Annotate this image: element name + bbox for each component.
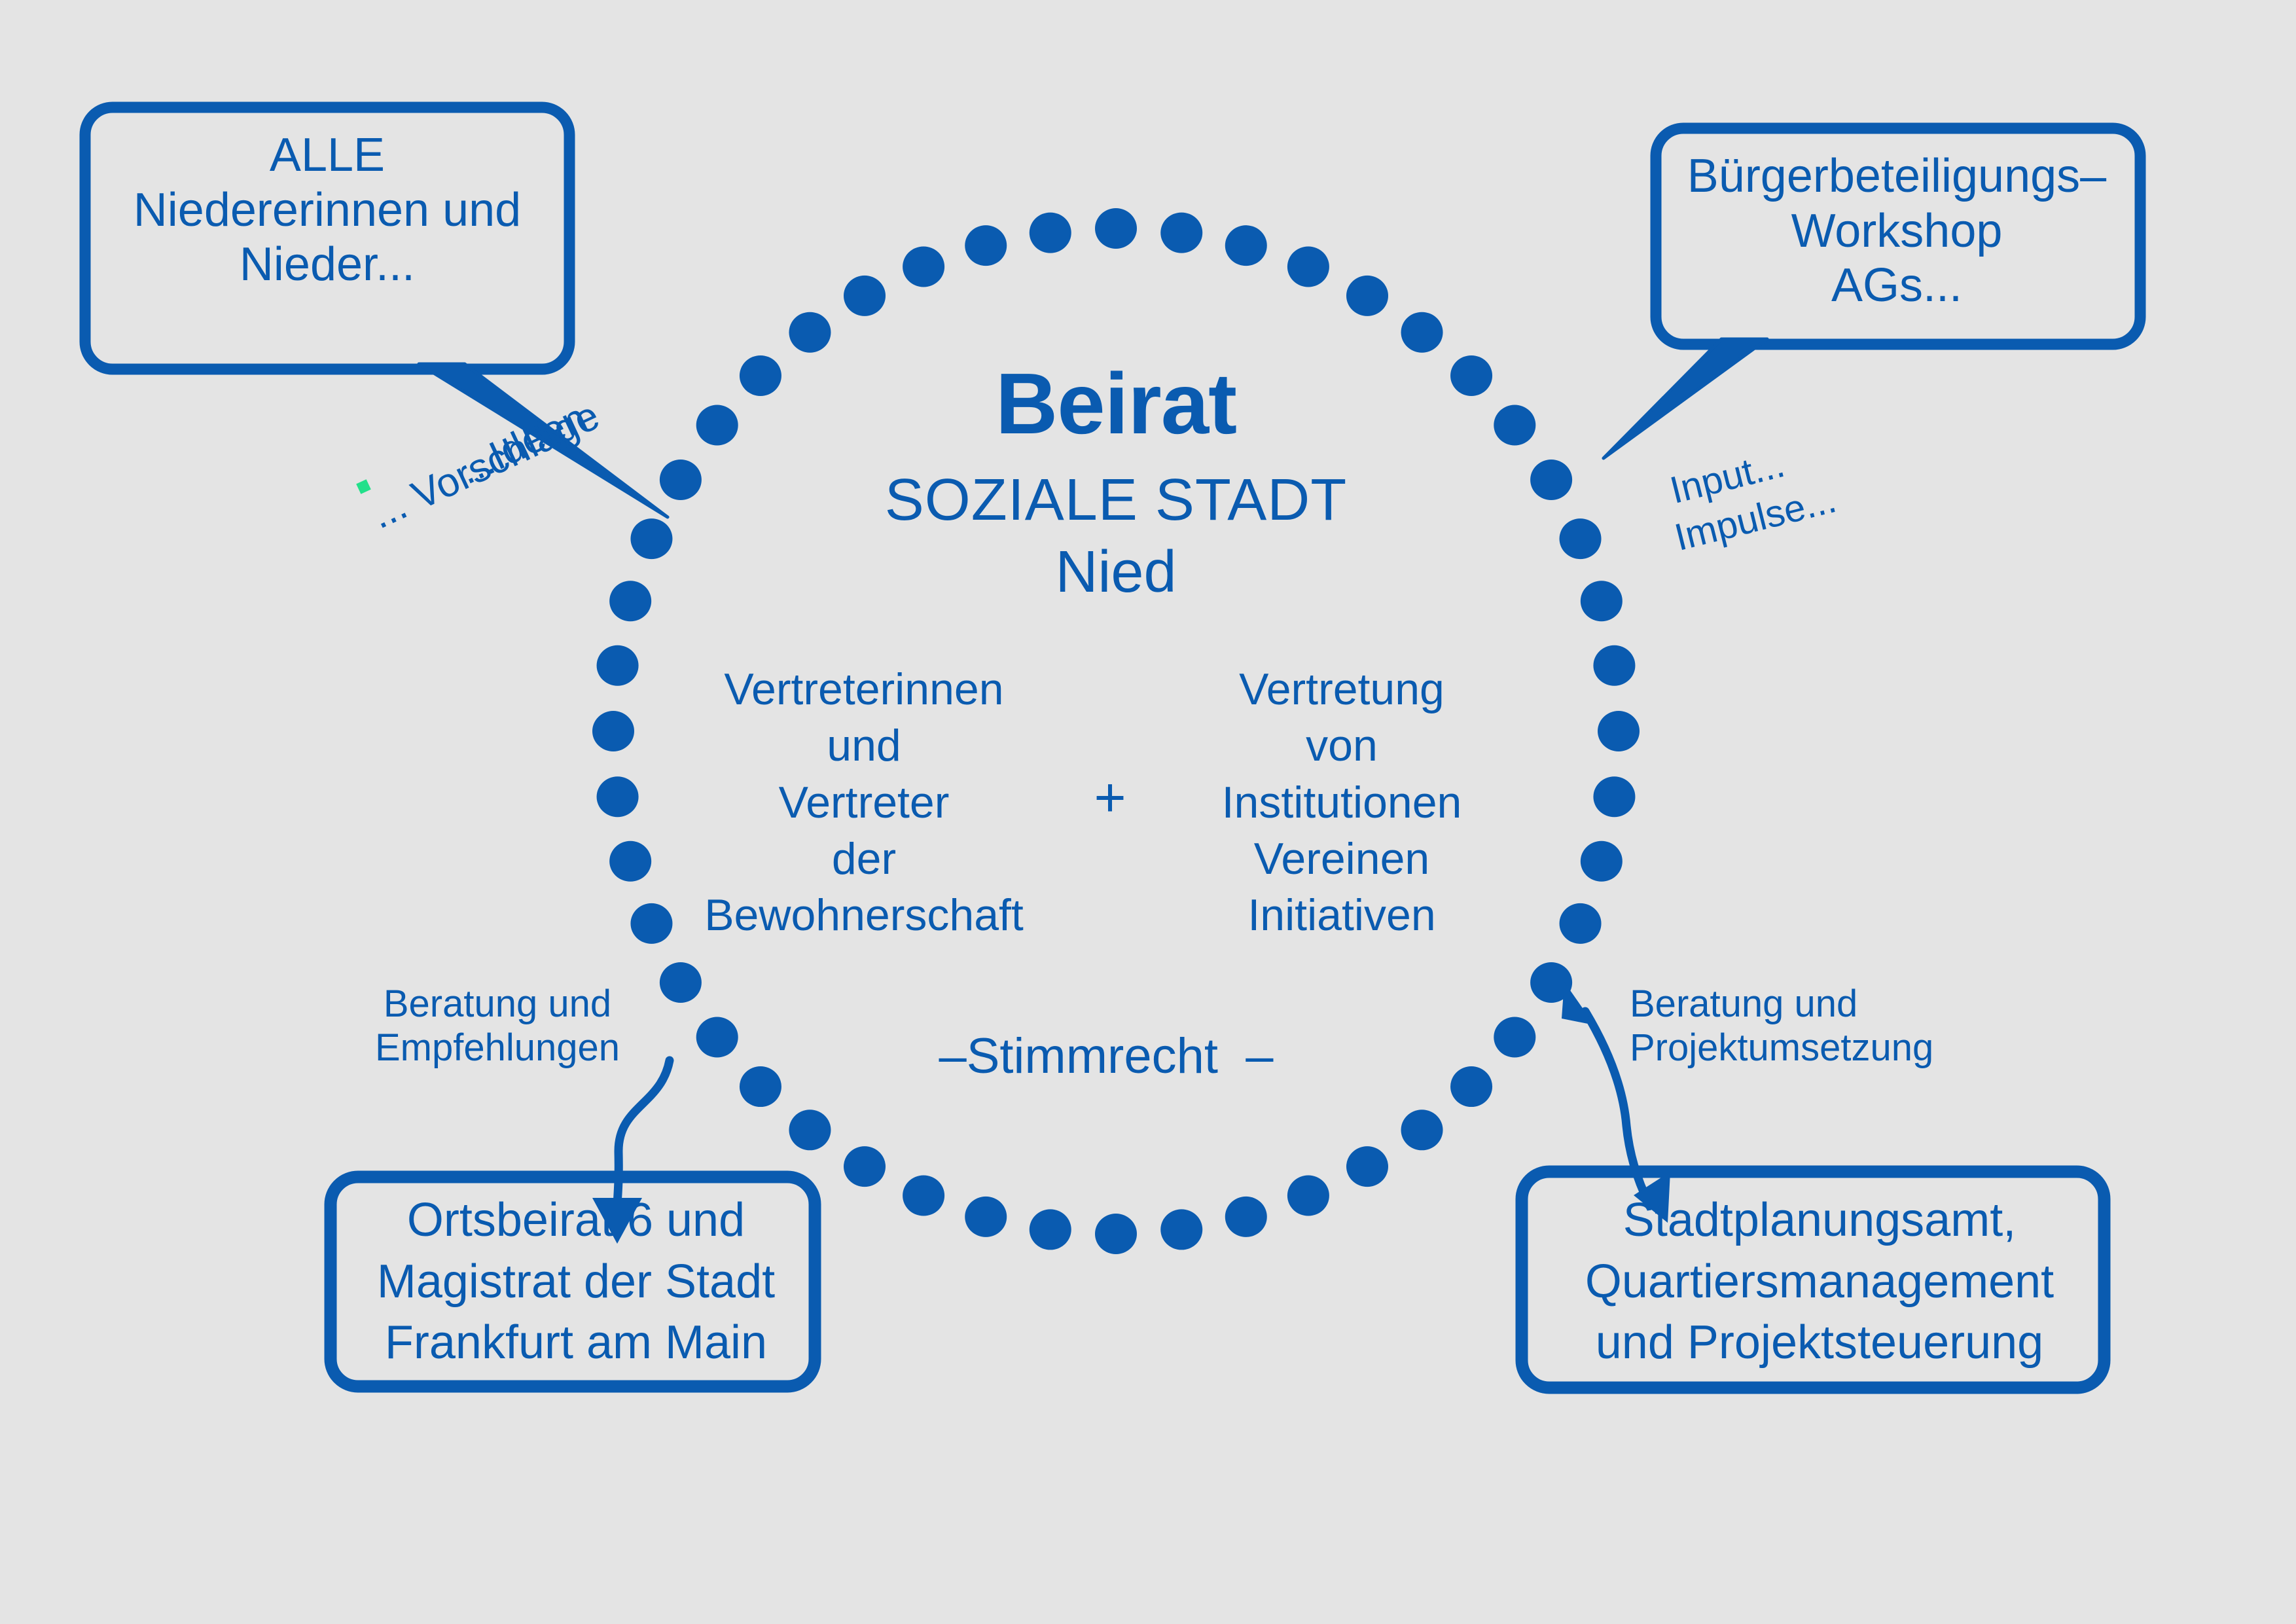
circle-dot	[1160, 213, 1202, 253]
circle-dot	[1160, 1209, 1202, 1250]
circle-dot	[1401, 1110, 1443, 1150]
circle-dot	[740, 1066, 781, 1107]
box-bottom-left-label: Ortsbeirat 6 und Magistrat der Stadt Fra…	[347, 1190, 805, 1374]
circle-dot	[1494, 405, 1535, 445]
circle-dot	[1287, 246, 1329, 287]
circle-dot	[597, 645, 639, 686]
circle-dot	[1560, 518, 1602, 559]
circle-dot	[609, 581, 651, 621]
bubble-top-right-label: Bürgerbeteiligungs– Workshop AGs...	[1668, 149, 2126, 314]
circle-dot	[789, 312, 831, 353]
caption-bottom-left: Beratung und Empfehlungen	[340, 982, 655, 1070]
subtitle-line-2: Nied	[815, 538, 1417, 606]
circle-dot	[609, 841, 651, 882]
plus-icon: +	[1071, 766, 1149, 829]
circle-dot	[630, 903, 672, 944]
circle-dot	[965, 225, 1007, 266]
circle-dot	[844, 1146, 886, 1187]
circle-dot	[1287, 1176, 1329, 1216]
circle-dot	[1030, 1209, 1071, 1250]
circle-dot	[660, 460, 702, 500]
circle-dot	[844, 276, 886, 316]
circle-dot	[1598, 711, 1640, 751]
circle-dot	[903, 246, 944, 287]
circle-dot	[1593, 776, 1635, 817]
speech-tail-icon	[1604, 339, 1767, 458]
circle-dot	[1450, 355, 1492, 396]
circle-dot	[1581, 841, 1623, 882]
circle-dot	[1225, 225, 1267, 266]
circle-dot	[696, 405, 738, 445]
circle-dot	[1095, 208, 1137, 249]
circle-dot	[1581, 581, 1623, 621]
circle-dot	[1593, 645, 1635, 686]
member-group-residents: Vertreterinnen und Vertreter der Bewohne…	[674, 661, 1054, 944]
circle-dot	[1494, 1017, 1535, 1058]
circle-dot	[696, 1017, 738, 1058]
circle-dot	[1346, 276, 1388, 316]
circle-dot	[740, 355, 781, 396]
diagram-canvas: ALLE Niedererinnen und Nieder... Bürgerb…	[0, 0, 2296, 1624]
bubble-top-left-label: ALLE Niedererinnen und Nieder...	[92, 128, 563, 293]
circle-dot	[965, 1197, 1007, 1237]
member-group-institutions: Vertretung von Institutionen Vereinen In…	[1178, 661, 1505, 944]
circle-dot	[1346, 1146, 1388, 1187]
circle-dot	[1225, 1197, 1267, 1237]
caption-bottom-right: Beratung und Projektumsetzung	[1630, 982, 1970, 1070]
circle-dot	[1450, 1066, 1492, 1107]
circle-dot	[592, 711, 634, 751]
circle-dot	[1560, 903, 1602, 944]
box-bottom-right-label: Stadtplanungsamt, Quartiersmanagement un…	[1538, 1190, 2101, 1374]
circle-dot	[903, 1176, 944, 1216]
circle-dot	[660, 962, 702, 1003]
circle-dot	[1530, 460, 1572, 500]
subtitle-line-1: SOZIALE STADT	[815, 466, 1417, 534]
voting-rights-note: –Stimmrecht –	[903, 1028, 1309, 1085]
circle-dot	[1030, 213, 1071, 253]
circle-dot	[597, 776, 639, 817]
circle-dot	[630, 518, 672, 559]
page-title: Beirat	[815, 353, 1417, 454]
circle-dot	[1401, 312, 1443, 353]
circle-dot	[789, 1110, 831, 1150]
circle-dot	[1095, 1214, 1137, 1254]
